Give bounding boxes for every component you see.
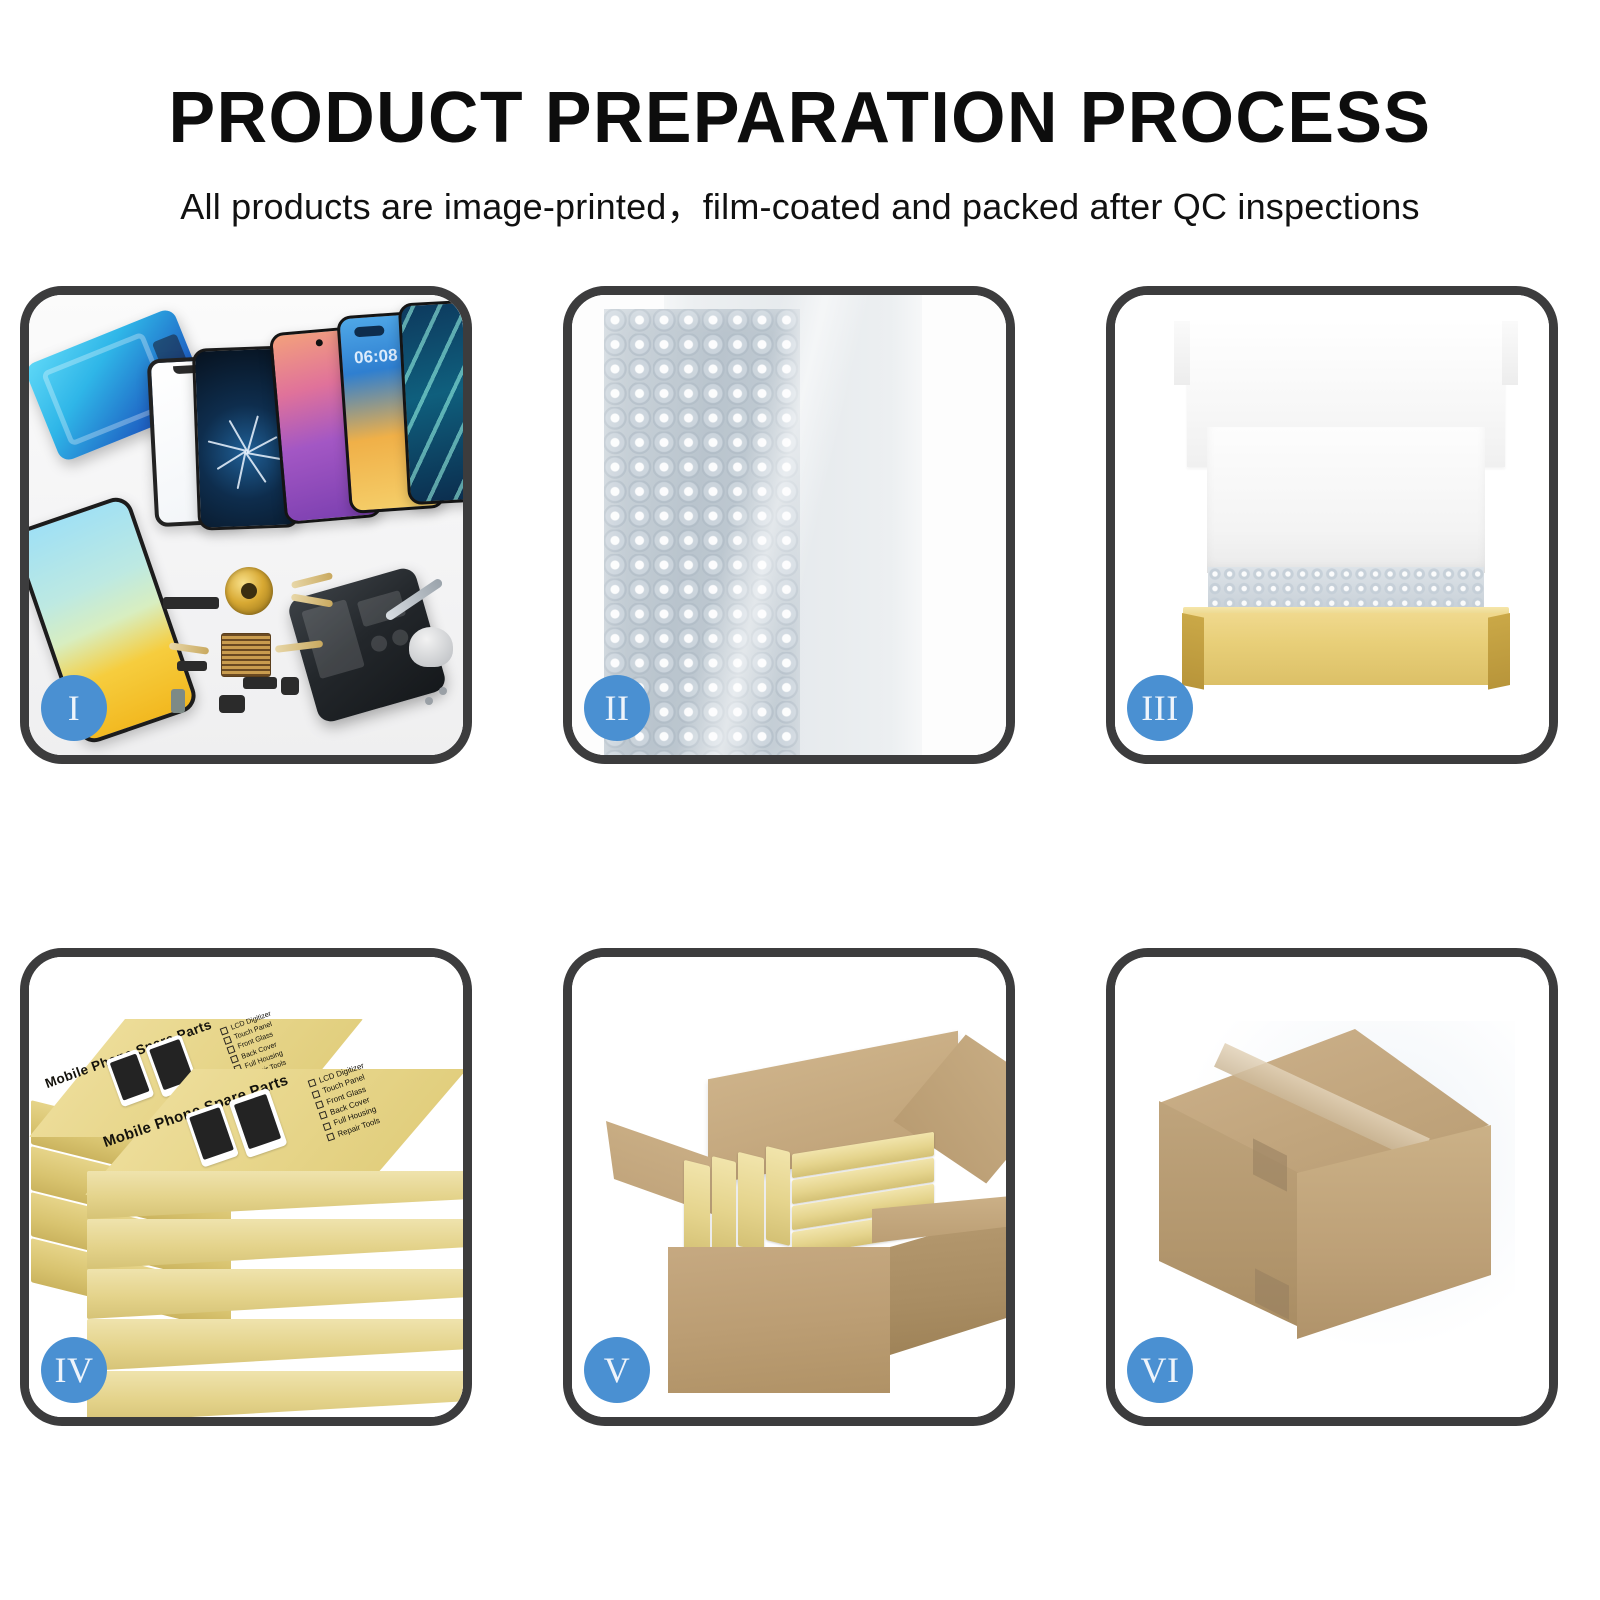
step-badge-1: I — [41, 675, 107, 741]
stacked-box-front-4 — [87, 1319, 463, 1371]
inner-gold-box — [766, 1146, 790, 1246]
page-title: PRODUCT PREPARATION PROCESS — [24, 0, 1576, 154]
yellow-box-base — [1183, 613, 1509, 685]
step-panel-1[interactable]: 06:08 — [20, 286, 472, 764]
flex-cable-part-a — [291, 572, 333, 589]
vibrator-part — [219, 695, 245, 713]
step-panel-3[interactable]: III — [1106, 286, 1558, 764]
inner-gold-box — [738, 1152, 764, 1252]
page-header: PRODUCT PREPARATION PROCESS All products… — [0, 0, 1600, 230]
inner-gold-box — [712, 1156, 736, 1256]
connector-part-a — [177, 661, 207, 671]
phone-notch-icon — [354, 325, 385, 337]
teal-wave-phone — [398, 299, 463, 506]
ic-grid-chip-part — [221, 633, 271, 677]
cleaning-brush-tool — [409, 627, 453, 667]
process-step-grid: 06:08 — [14, 286, 1592, 1454]
step-badge-2: II — [584, 675, 650, 741]
screw-set-part — [425, 697, 433, 705]
speaker-module-part — [163, 597, 219, 609]
stacked-box-front-1 — [87, 1171, 463, 1219]
stacked-box-front-5 — [87, 1371, 463, 1417]
step-panel-4[interactable]: Mobile Phone Spare Parts LCD Digitizer T… — [20, 948, 472, 1426]
inner-gold-box — [684, 1160, 710, 1260]
screw-set-part-b — [439, 687, 447, 695]
phone-clock-label: 06:08 — [353, 345, 398, 368]
camera-module-part — [281, 677, 299, 695]
carton-front-face — [668, 1247, 890, 1393]
bag-sheen-highlight — [664, 295, 922, 755]
step-badge-3: III — [1127, 675, 1193, 741]
step-badge-4: IV — [41, 1337, 107, 1403]
step-panel-2[interactable]: II — [563, 286, 1015, 764]
step-panel-5[interactable]: V — [563, 948, 1015, 1426]
wireless-charge-coil-part — [225, 567, 273, 615]
stacked-box-front-3 — [87, 1269, 463, 1319]
step-panel-6[interactable]: VI — [1106, 948, 1558, 1426]
white-foam-liner — [1207, 427, 1485, 573]
step-badge-5: V — [584, 1337, 650, 1403]
step-badge-6: VI — [1127, 1337, 1193, 1403]
stacked-box-front-2 — [87, 1219, 463, 1269]
page-subtitle: All products are image-printed，film-coat… — [0, 154, 1600, 230]
battery-connector-part — [243, 677, 277, 689]
sim-tray-part — [171, 689, 185, 713]
